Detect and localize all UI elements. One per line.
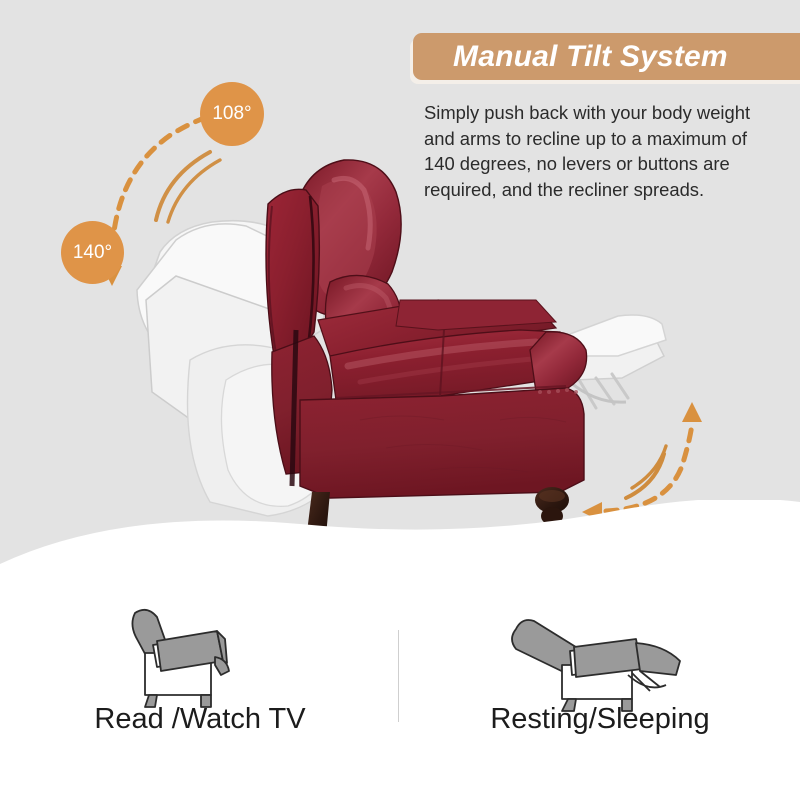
feature-resting-sleeping: Resting/Sleeping [405, 585, 795, 800]
feature-label-read: Read /Watch TV [5, 703, 395, 736]
description-text: Simply push back with your body weight a… [424, 100, 780, 202]
angle-badge-108: 108° [200, 82, 264, 146]
reclined-chair-icon [500, 595, 700, 720]
angle-badge-140: 140° [61, 221, 124, 284]
title-banner: Manual Tilt System [413, 33, 800, 80]
red-recliner-chair [266, 160, 587, 540]
feature-label-resting: Resting/Sleeping [405, 703, 795, 736]
feature-divider [398, 630, 399, 722]
page-title: Manual Tilt System [453, 40, 728, 74]
feature-read-watch-tv: Read /Watch TV [5, 585, 395, 800]
feature-row: Read /Watch TV [0, 585, 800, 800]
upright-chair-icon [105, 595, 295, 720]
infographic-page: 108° 140° Manual Tilt System Simply push… [0, 0, 800, 800]
